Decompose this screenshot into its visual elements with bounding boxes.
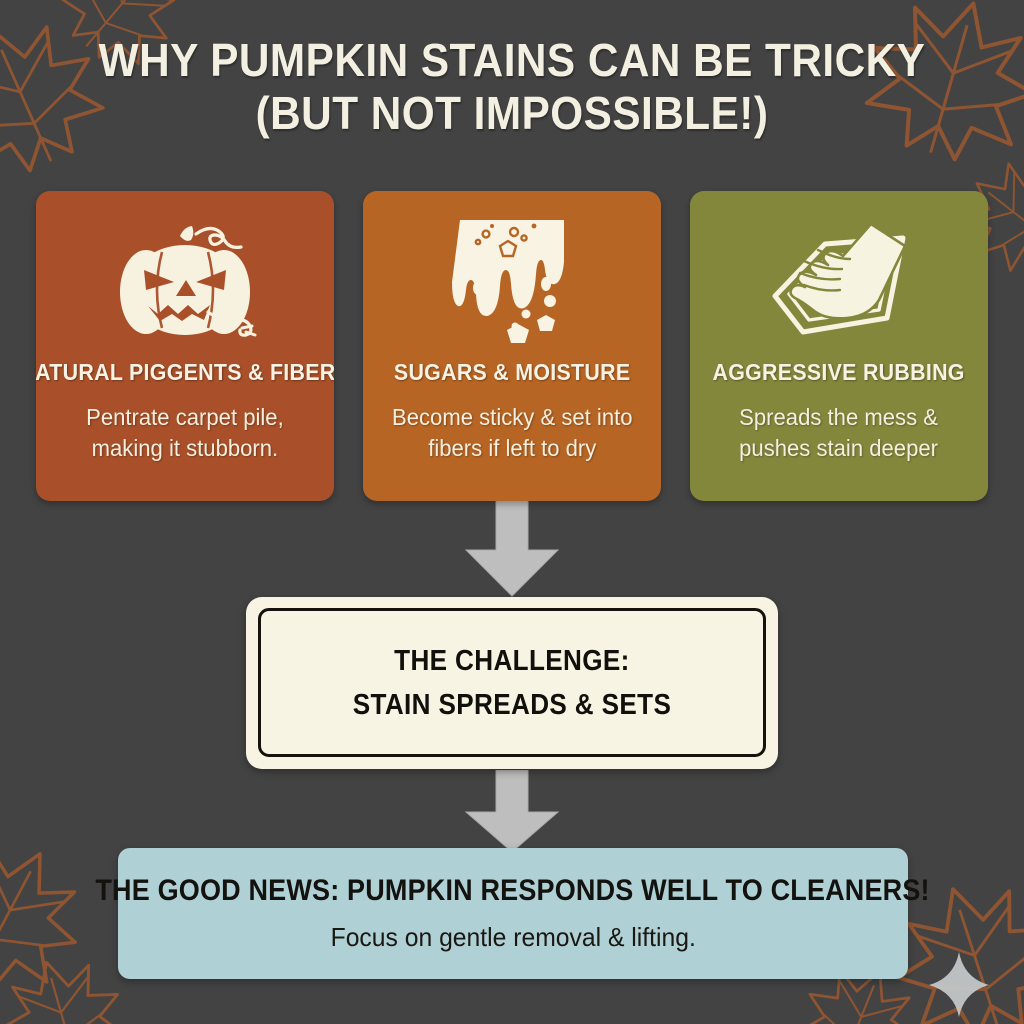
good-news-banner: THE GOOD NEWS: PUMPKIN RESPONDS WELL TO …: [118, 848, 908, 979]
hand-scrubbing-cloth-icon: [759, 203, 919, 353]
card-heading: AGGRESSIVE RUBBING: [713, 359, 965, 386]
card-heading: SUGARS & MOISTURE: [394, 359, 630, 386]
title-line-1: WHY PUMPKIN STAINS CAN BE TRICKY: [41, 34, 983, 87]
challenge-callout-box: THE CHALLENGE: STAIN SPREADS & SETS: [246, 597, 778, 769]
challenge-line-1: THE CHALLENGE:: [353, 639, 672, 683]
card-body: Become sticky & set into fibers if left …: [380, 402, 644, 464]
card-body-line-1: Spreads the mess &: [740, 402, 939, 433]
challenge-text-group: THE CHALLENGE: STAIN SPREADS & SETS: [335, 639, 689, 727]
card-body-line-2: fibers if left to dry: [392, 433, 633, 464]
down-arrow-icon-top: [446, 500, 578, 598]
sparkle-icon: [928, 952, 990, 1018]
leaf-bottom-left-low: [0, 946, 134, 1024]
down-arrow-icon-bottom: [446, 770, 578, 854]
cause-cards-row: NATURAL PIGGENTS & FIBERS Pentrate carpe…: [36, 191, 988, 501]
leaf-bottom-left: [0, 820, 104, 1009]
card-body-line-2: pushes stain deeper: [740, 433, 939, 464]
card-natural-pigments[interactable]: NATURAL PIGGENTS & FIBERS Pentrate carpe…: [36, 191, 334, 501]
card-body-line-1: Pentrate carpet pile,: [86, 402, 284, 433]
card-aggressive-rubbing[interactable]: AGGRESSIVE RUBBING Spreads the mess & pu…: [690, 191, 988, 501]
infographic-canvas: WHY PUMPKIN STAINS CAN BE TRICKY (BUT NO…: [0, 0, 1024, 1024]
good-news-headline: THE GOOD NEWS: PUMPKIN RESPONDS WELL TO …: [96, 874, 930, 908]
card-sugars-moisture[interactable]: SUGARS & MOISTURE Become sticky & set in…: [363, 191, 661, 501]
jack-o-lantern-icon: [100, 203, 270, 353]
good-news-subtext: Focus on gentle removal & lifting.: [330, 922, 695, 953]
card-body-line-1: Become sticky & set into: [392, 402, 633, 433]
card-body: Pentrate carpet pile, making it stubborn…: [75, 402, 296, 464]
dripping-goo-icon: [442, 203, 582, 353]
title-line-2: (BUT NOT IMPOSSIBLE!): [41, 87, 983, 140]
card-heading: NATURAL PIGGENTS & FIBERS: [36, 359, 334, 386]
page-title: WHY PUMPKIN STAINS CAN BE TRICKY (BUT NO…: [0, 34, 1024, 140]
challenge-line-2: STAIN SPREADS & SETS: [353, 683, 672, 727]
card-body: Spreads the mess & pushes stain deeper: [728, 402, 950, 464]
card-body-line-2: making it stubborn.: [86, 433, 284, 464]
